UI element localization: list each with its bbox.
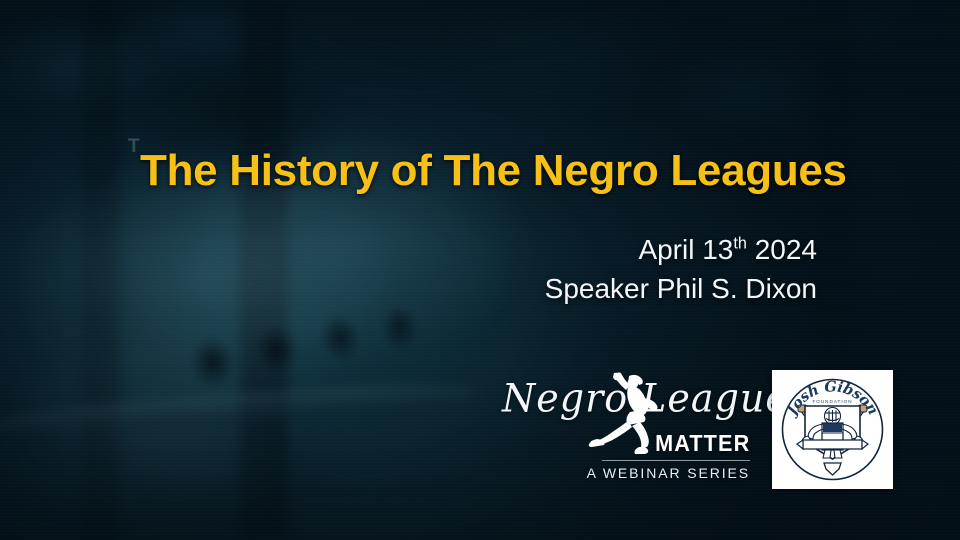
josh-gibson-foundation-logo: Josh Gibson FOUNDATION bbox=[772, 370, 893, 489]
matter-wordmark: MATTER bbox=[655, 430, 750, 457]
negro-leagues-matter-logo: Negro Leagues bbox=[502, 372, 752, 490]
event-date-ordinal: th bbox=[733, 235, 747, 253]
event-date-year: 2024 bbox=[747, 234, 817, 265]
presentation-slide: T The History of The Negro Leagues April… bbox=[0, 0, 960, 540]
event-speaker: Speaker Phil S. Dixon bbox=[545, 271, 817, 307]
event-date-main: April 13 bbox=[638, 234, 733, 265]
josh-gibson-crest-icon: Josh Gibson FOUNDATION bbox=[772, 370, 893, 489]
slide-event-details: April 13th 2024 Speaker Phil S. Dixon bbox=[545, 232, 817, 307]
foundation-subtitle-text: FOUNDATION bbox=[812, 399, 852, 404]
pitcher-silhouette-icon bbox=[588, 372, 664, 458]
webinar-series-tagline: A WEBINAR SERIES bbox=[587, 465, 750, 481]
ghost-text-artifact: T bbox=[128, 136, 140, 158]
slide-title: The History of The Negro Leagues bbox=[140, 148, 800, 195]
event-date: April 13th 2024 bbox=[545, 232, 817, 268]
logo-divider-rule bbox=[602, 460, 750, 461]
